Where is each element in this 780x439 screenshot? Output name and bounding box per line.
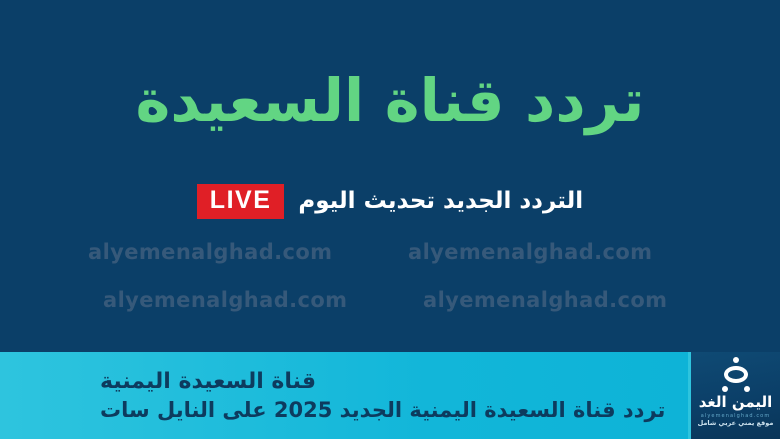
subtitle-row: التردد الجديد تحديث اليوم LIVE [0,180,780,222]
tha-circle-dots-icon [715,356,757,394]
site-logo: اليمن الغد alyemenalghad.com موقع يمني ع… [688,352,780,439]
caption-text-group: قناة السعيدة اليمنية تردد قناة السعيدة ا… [100,352,684,439]
logo-ring [724,366,748,383]
logo-dot-bottom-right [744,386,750,392]
watermark: alyemenalghad.com [423,288,667,312]
bottom-caption-bar: قناة السعيدة اليمنية تردد قناة السعيدة ا… [0,352,780,439]
promo-banner: تردد قناة السعيدة التردد الجديد تحديث ال… [0,0,780,439]
page-title: تردد قناة السعيدة [0,66,780,136]
caption-line-2: تردد قناة السعيدة اليمنية الجديد 2025 عل… [100,398,665,422]
watermark: alyemenalghad.com [408,240,652,264]
live-badge: LIVE [197,184,285,219]
caption-line-1: قناة السعيدة اليمنية [100,369,316,394]
logo-tagline: موقع يمني عربي شامل [698,419,774,427]
watermark: alyemenalghad.com [88,240,332,264]
logo-name: اليمن الغد [699,395,773,411]
logo-dot-top [733,357,739,363]
subtitle: التردد الجديد تحديث اليوم [298,188,583,214]
logo-dot-bottom-left [722,386,728,392]
hero-section: تردد قناة السعيدة التردد الجديد تحديث ال… [0,0,780,352]
watermark: alyemenalghad.com [103,288,347,312]
